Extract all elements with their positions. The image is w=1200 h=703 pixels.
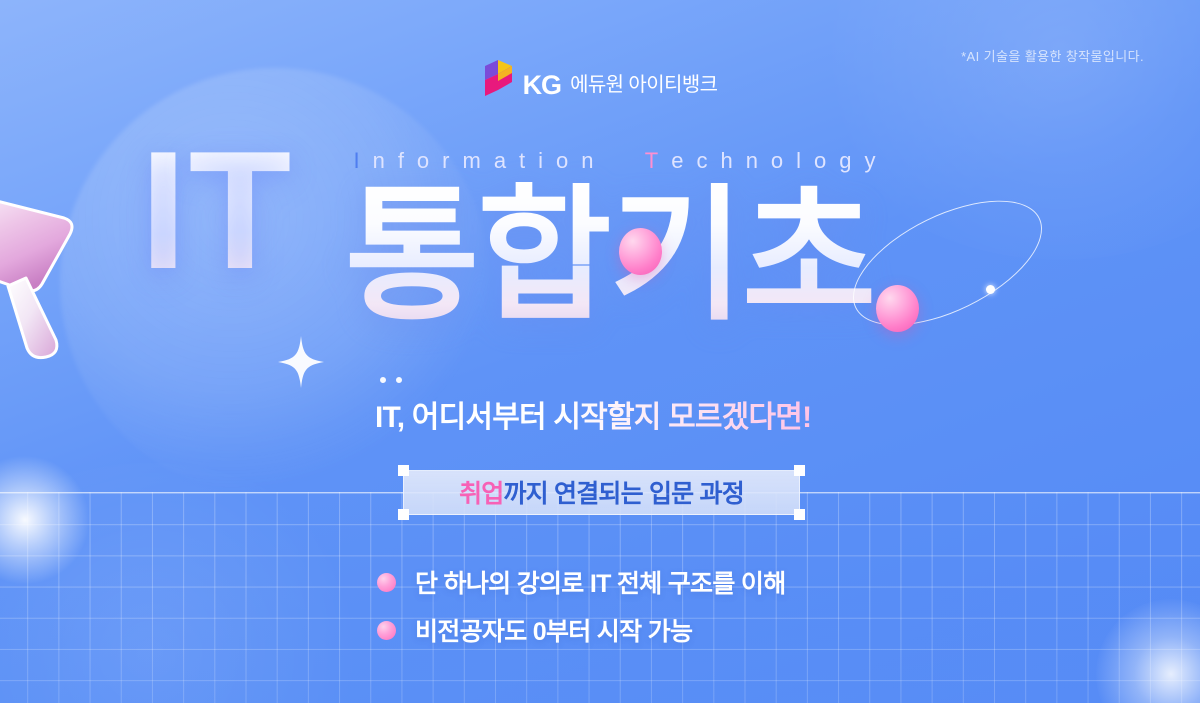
pink-sphere-icon-a <box>619 228 662 275</box>
sparkle-icon <box>278 336 324 388</box>
badge-handle-top-left <box>398 465 409 476</box>
eyebrow-letter-i: I <box>353 148 372 173</box>
badge-handle-bottom-right <box>794 509 805 520</box>
course-badge-highlight: 취업 <box>459 480 503 508</box>
course-badge-text: 취업까지 연결되는 입문 과정 <box>459 474 744 510</box>
hero-big-it: IT <box>140 126 293 294</box>
hero-sub-headline: IT, 어디서부터 시작할지 모르겠다면! <box>375 392 811 436</box>
badge-handle-bottom-left <box>398 509 409 520</box>
brand-logo: KG 에듀원 아이티뱅크 <box>0 60 1200 96</box>
list-item: 단 하나의 강의로 IT 전체 구조를 이해 <box>377 558 786 606</box>
bullet-text: 비전공자도 0부터 시작 가능 <box>415 612 692 648</box>
bullet-dot-icon <box>377 573 396 592</box>
course-badge-rest: 까지 연결되는 입문 과정 <box>503 480 743 508</box>
list-item: 비전공자도 0부터 시작 가능 <box>377 606 786 654</box>
logo-kg-text: KG <box>523 72 562 99</box>
bullet-text: 단 하나의 강의로 IT 전체 구조를 이해 <box>415 564 786 600</box>
hero-big-title: 통합기초 <box>345 182 874 331</box>
badge-handle-top-right <box>794 465 805 476</box>
kg-ribbon-icon <box>483 60 513 96</box>
orbit-dot-icon <box>986 285 995 294</box>
cursor-3d-icon <box>0 158 118 363</box>
bullet-dot-icon <box>377 621 396 640</box>
logo-brand-name: 에듀원 아이티뱅크 <box>570 75 717 95</box>
feature-bullet-list: 단 하나의 강의로 IT 전체 구조를 이해 비전공자도 0부터 시작 가능 <box>377 558 786 654</box>
eyebrow-letter-t: T <box>645 148 671 173</box>
emphasis-dots-icon <box>380 377 410 385</box>
eyebrow-echnology: echnology <box>671 148 888 173</box>
eyebrow-nformation: nformation <box>373 148 607 173</box>
pink-sphere-icon-b <box>876 285 919 332</box>
course-badge: 취업까지 연결되는 입문 과정 <box>403 470 800 515</box>
promo-banner: *AI 기술을 활용한 창작물입니다. KG 에듀원 아이티뱅크 Informa… <box>0 0 1200 703</box>
